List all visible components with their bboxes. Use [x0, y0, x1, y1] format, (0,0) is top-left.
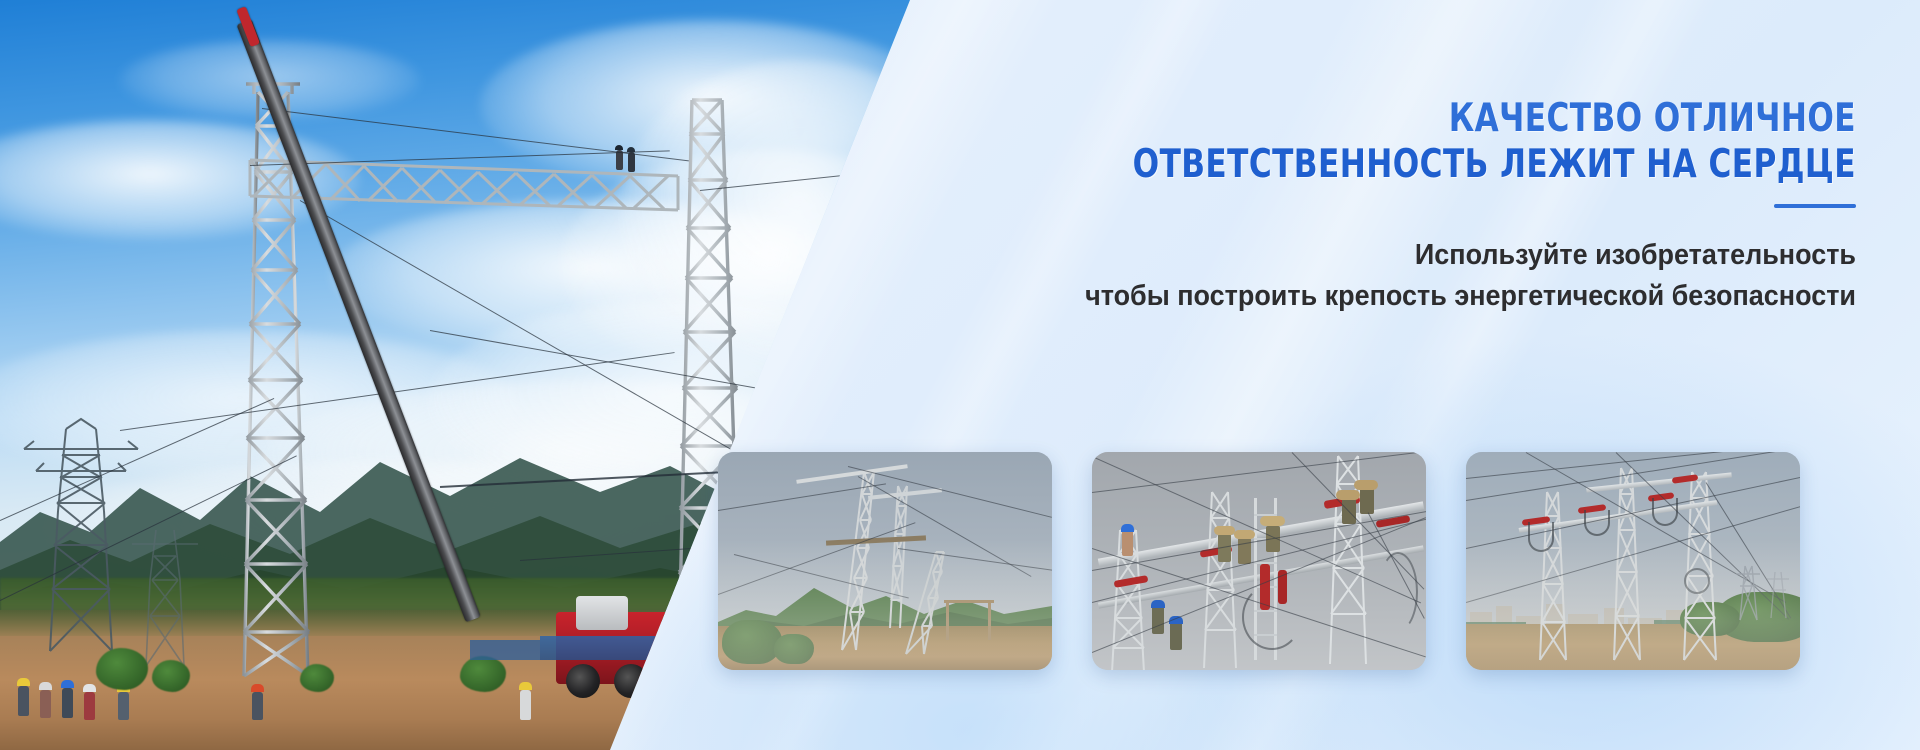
crane-wheel [566, 664, 600, 698]
thumbnail-gallery [718, 452, 1800, 670]
worker-helmet-icon [519, 682, 532, 690]
worker-helmet-icon [1121, 524, 1134, 532]
ground-worker [84, 692, 95, 720]
ground-worker [520, 690, 531, 720]
subtitle: Используйте изобретательность чтобы пост… [870, 235, 1856, 316]
lineman [1170, 622, 1182, 650]
cable-loop [1378, 552, 1418, 632]
worker-helmet-icon [83, 684, 96, 692]
worker-on-tower [628, 152, 635, 172]
atmospheric-haze [1466, 452, 1800, 670]
worker-helmet-icon [615, 145, 623, 150]
thumbnail-photo-2 [1092, 452, 1426, 670]
headline-divider [1774, 204, 1856, 208]
ground-worker [40, 690, 51, 718]
thumbnail-photo-1 [718, 452, 1052, 670]
worker-helmet-icon [17, 678, 30, 686]
banner-copy: КАЧЕСТВО ОТЛИЧНОЕ ОТВЕТСТВЕННОСТЬ ЛЕЖИТ … [796, 96, 1856, 316]
worker-helmet-icon [61, 680, 74, 688]
sun-hat-icon [1354, 480, 1378, 490]
lineman [1122, 530, 1133, 556]
bush [460, 656, 506, 692]
cable-loop [1242, 584, 1302, 650]
sun-hat-icon [1260, 516, 1285, 526]
ground-worker [62, 688, 73, 718]
worker-helmet-icon [39, 682, 52, 690]
bush [96, 648, 148, 690]
atmospheric-haze [718, 452, 1052, 670]
site-hoarding [470, 640, 540, 660]
ground-worker [252, 692, 263, 720]
headline: КАЧЕСТВО ОТЛИЧНОЕ ОТВЕТСТВЕННОСТЬ ЛЕЖИТ … [1008, 96, 1856, 187]
headline-line-2: ОТВЕТСТВЕННОСТЬ ЛЕЖИТ НА СЕРДЦЕ [1008, 142, 1856, 188]
thumbnail-card-1[interactable] [718, 452, 1052, 670]
subtitle-line-2: чтобы построить крепость энергетической … [870, 276, 1856, 317]
worker-helmet-icon [251, 684, 264, 692]
thumbnail-card-3[interactable] [1466, 452, 1800, 670]
ground-worker [18, 686, 29, 716]
bush [300, 664, 334, 692]
sun-hat-icon [1336, 490, 1360, 500]
thumbnail-photo-3 [1466, 452, 1800, 670]
lattice-leg [1196, 490, 1242, 670]
hero-banner: КАЧЕСТВО ОТЛИЧНОЕ ОТВЕТСТВЕННОСТЬ ЛЕЖИТ … [0, 0, 1920, 750]
lineman [1360, 488, 1374, 514]
lineman [1152, 606, 1164, 634]
bush [152, 660, 190, 692]
crane-cab [576, 596, 628, 630]
sun-hat-icon [1214, 526, 1235, 535]
headline-line-1: КАЧЕСТВО ОТЛИЧНОЕ [1008, 96, 1856, 142]
worker-helmet-icon [1151, 600, 1165, 608]
subtitle-line-1: Используйте изобретательность [870, 235, 1856, 276]
thumbnail-card-2[interactable] [1092, 452, 1426, 670]
ground-worker [118, 692, 129, 720]
distant-pylon [120, 520, 210, 670]
sun-hat-icon [1234, 530, 1255, 539]
